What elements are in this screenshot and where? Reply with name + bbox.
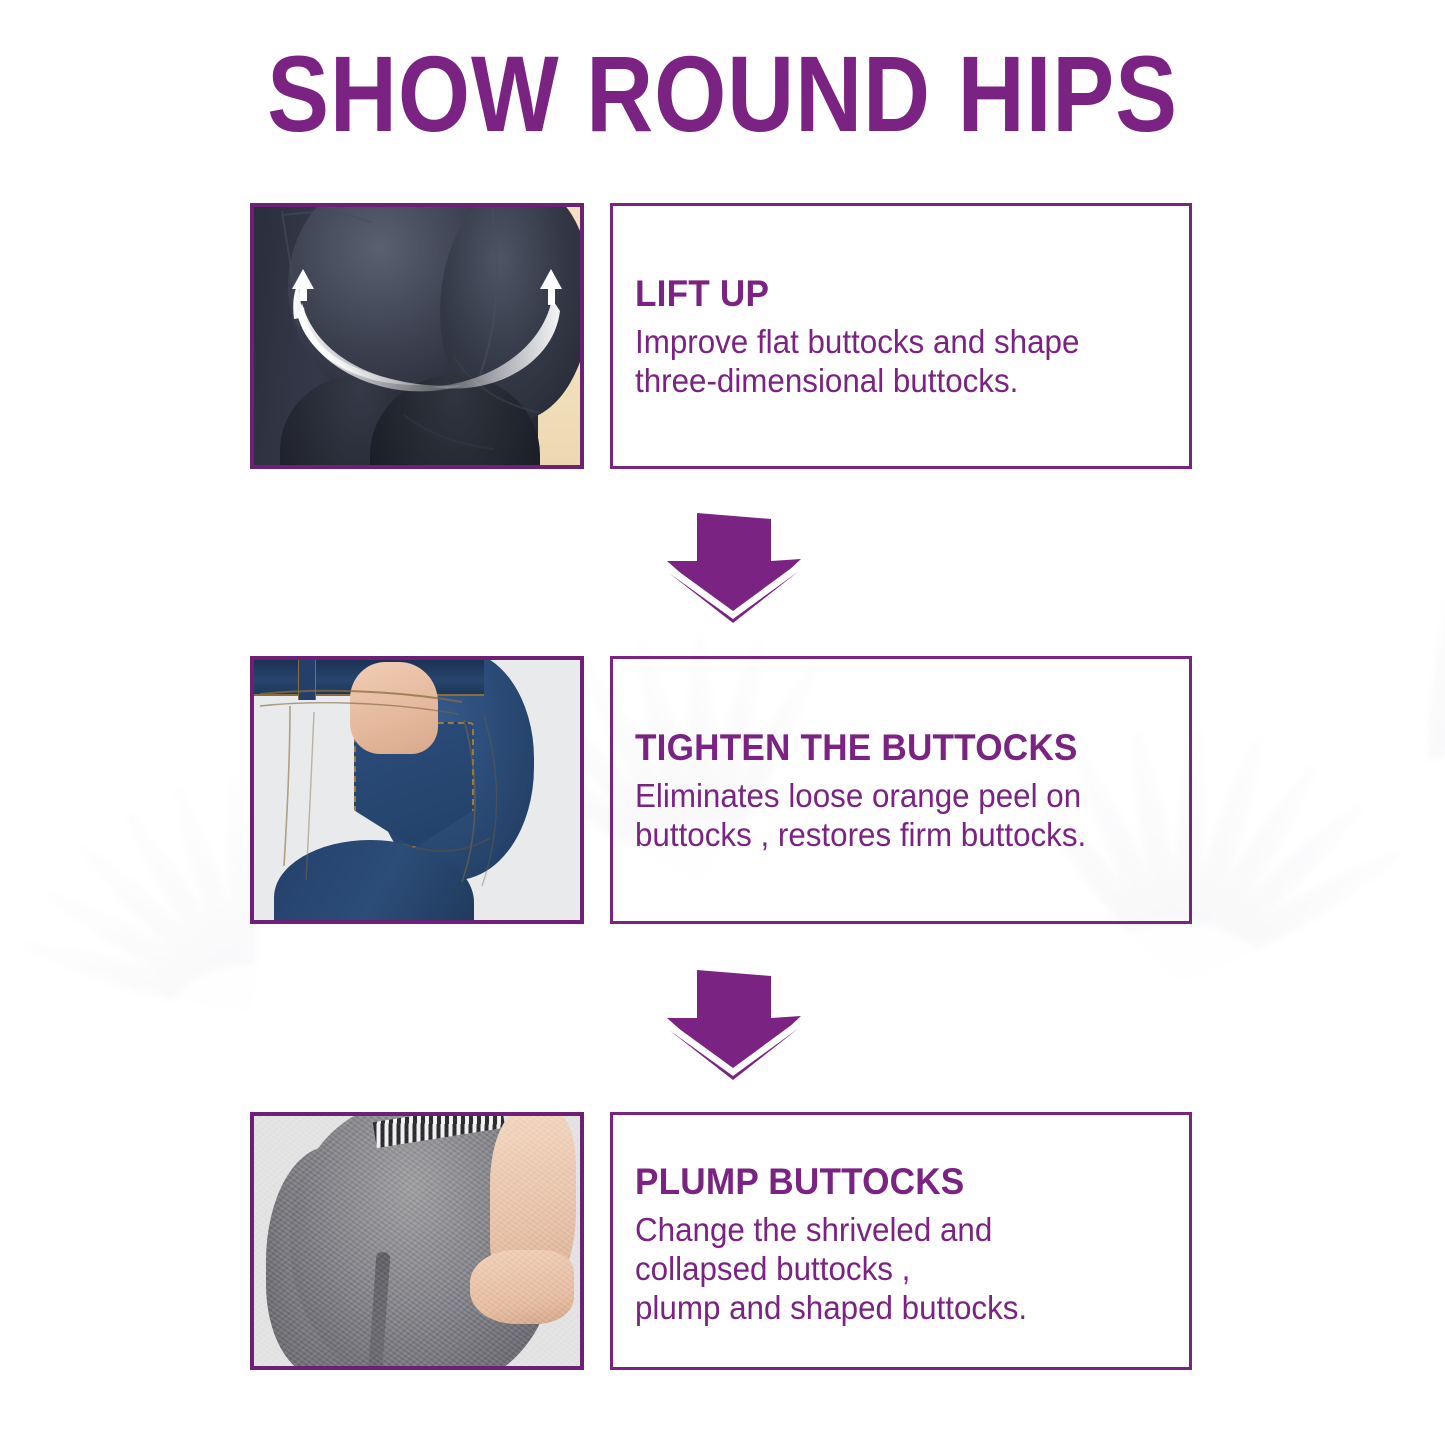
feature-body-3: Change the shriveled and collapsed butto… — [635, 1210, 1152, 1327]
feature-row-2: TIGHTEN THE BUTTOCKS Eliminates loose or… — [0, 656, 1445, 924]
down-arrow-1 — [663, 511, 803, 623]
feature-heading-2: TIGHTEN THE BUTTOCKS — [635, 726, 1152, 770]
feature-body-1: Improve flat buttocks and shape three-di… — [635, 322, 1152, 400]
feature-row-1: LIFT UP Improve flat buttocks and shape … — [0, 203, 1445, 469]
feature-heading-3: PLUMP BUTTOCKS — [635, 1160, 1152, 1204]
infographic-page: SHOW ROUND HIPS — [0, 0, 1445, 1445]
lift-arrow-right — [540, 269, 562, 305]
feature-textbox-2: TIGHTEN THE BUTTOCKS Eliminates loose or… — [610, 656, 1192, 924]
photo-lift-up — [250, 203, 584, 469]
down-arrow-2 — [663, 968, 803, 1080]
feature-textbox-3: PLUMP BUTTOCKS Change the shriveled and … — [610, 1112, 1192, 1370]
feature-body-2: Eliminates loose orange peel on buttocks… — [635, 776, 1152, 854]
photo-tighten-buttocks — [250, 656, 584, 924]
page-title: SHOW ROUND HIPS — [101, 38, 1344, 150]
feature-textbox-1: LIFT UP Improve flat buttocks and shape … — [610, 203, 1192, 469]
feature-heading-1: LIFT UP — [635, 272, 1152, 316]
feature-row-3: PLUMP BUTTOCKS Change the shriveled and … — [0, 1112, 1445, 1370]
photo-plump-buttocks — [250, 1112, 584, 1370]
